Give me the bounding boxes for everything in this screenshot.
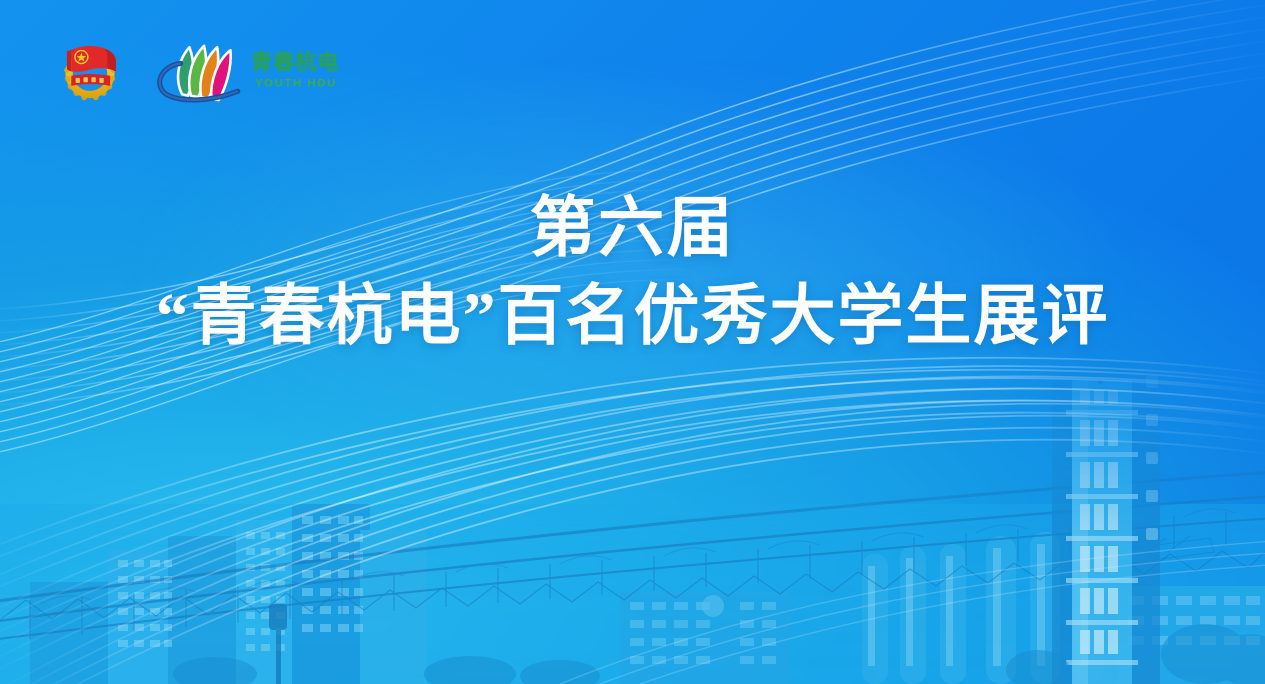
youth-hdu-logo: 青春杭电 YOUTH HDU <box>148 37 342 103</box>
youth-hdu-petal-mark <box>148 37 244 103</box>
event-banner: 杭州电子科技大学 <box>0 0 1265 684</box>
logo-bar: 青春杭电 YOUTH HDU <box>54 34 342 106</box>
svg-text:YOUTH HDU: YOUTH HDU <box>255 77 337 89</box>
svg-text:青春杭电: 青春杭电 <box>251 49 339 74</box>
youth-hdu-wordmark: 青春杭电 YOUTH HDU <box>248 45 342 95</box>
communist-youth-league-emblem <box>54 34 126 106</box>
